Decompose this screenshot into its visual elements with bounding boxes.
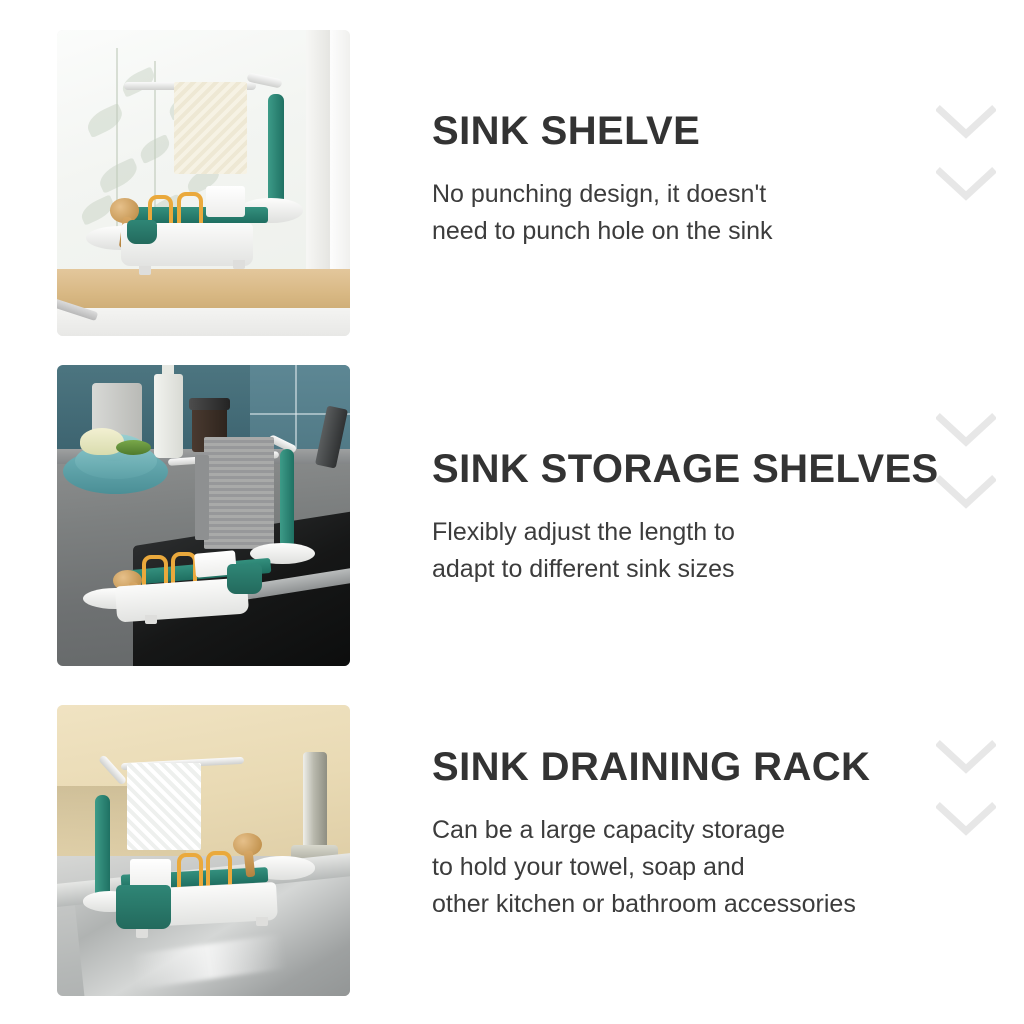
sink-rack-illustration [57,30,350,336]
chevron-down-icon [936,799,996,839]
chevron-down-icon [936,102,996,142]
feature-heading: SINK STORAGE SHELVES [432,448,939,490]
product-photo [57,705,350,996]
chevron-group [936,410,998,512]
scene-kitchen-counter [57,365,350,666]
feature-text: SINK SHELVE No punching design, it doesn… [432,110,773,250]
feature-block: SINK SHELVE No punching design, it doesn… [0,30,1024,336]
feature-text: SINK STORAGE SHELVES Flexibly adjust the… [432,448,939,588]
chevron-group [936,737,998,839]
feature-description: No punching design, it doesn't need to p… [432,176,773,250]
feature-text: SINK DRAINING RACK Can be a large capaci… [432,746,870,923]
feature-description: Can be a large capacity storage to hold … [432,812,870,923]
product-infographic-page: SINK SHELVE No punching design, it doesn… [0,0,1024,1024]
feature-block: SINK DRAINING RACK Can be a large capaci… [0,705,1024,996]
feature-heading: SINK DRAINING RACK [432,746,870,788]
scene-steel-sink [57,705,350,996]
feature-description: Flexibly adjust the length to adapt to d… [432,514,939,588]
product-photo [57,365,350,666]
scene-window-sill [57,30,350,336]
product-photo [57,30,350,336]
feature-block: SINK STORAGE SHELVES Flexibly adjust the… [0,365,1024,666]
chevron-down-icon [936,410,996,450]
sink-rack-illustration [57,705,350,996]
feature-heading: SINK SHELVE [432,110,773,152]
chevron-group [936,102,998,204]
chevron-down-icon [936,164,996,204]
sink-rack-illustration [57,365,350,666]
chevron-down-icon [936,737,996,777]
chevron-down-icon [936,472,996,512]
